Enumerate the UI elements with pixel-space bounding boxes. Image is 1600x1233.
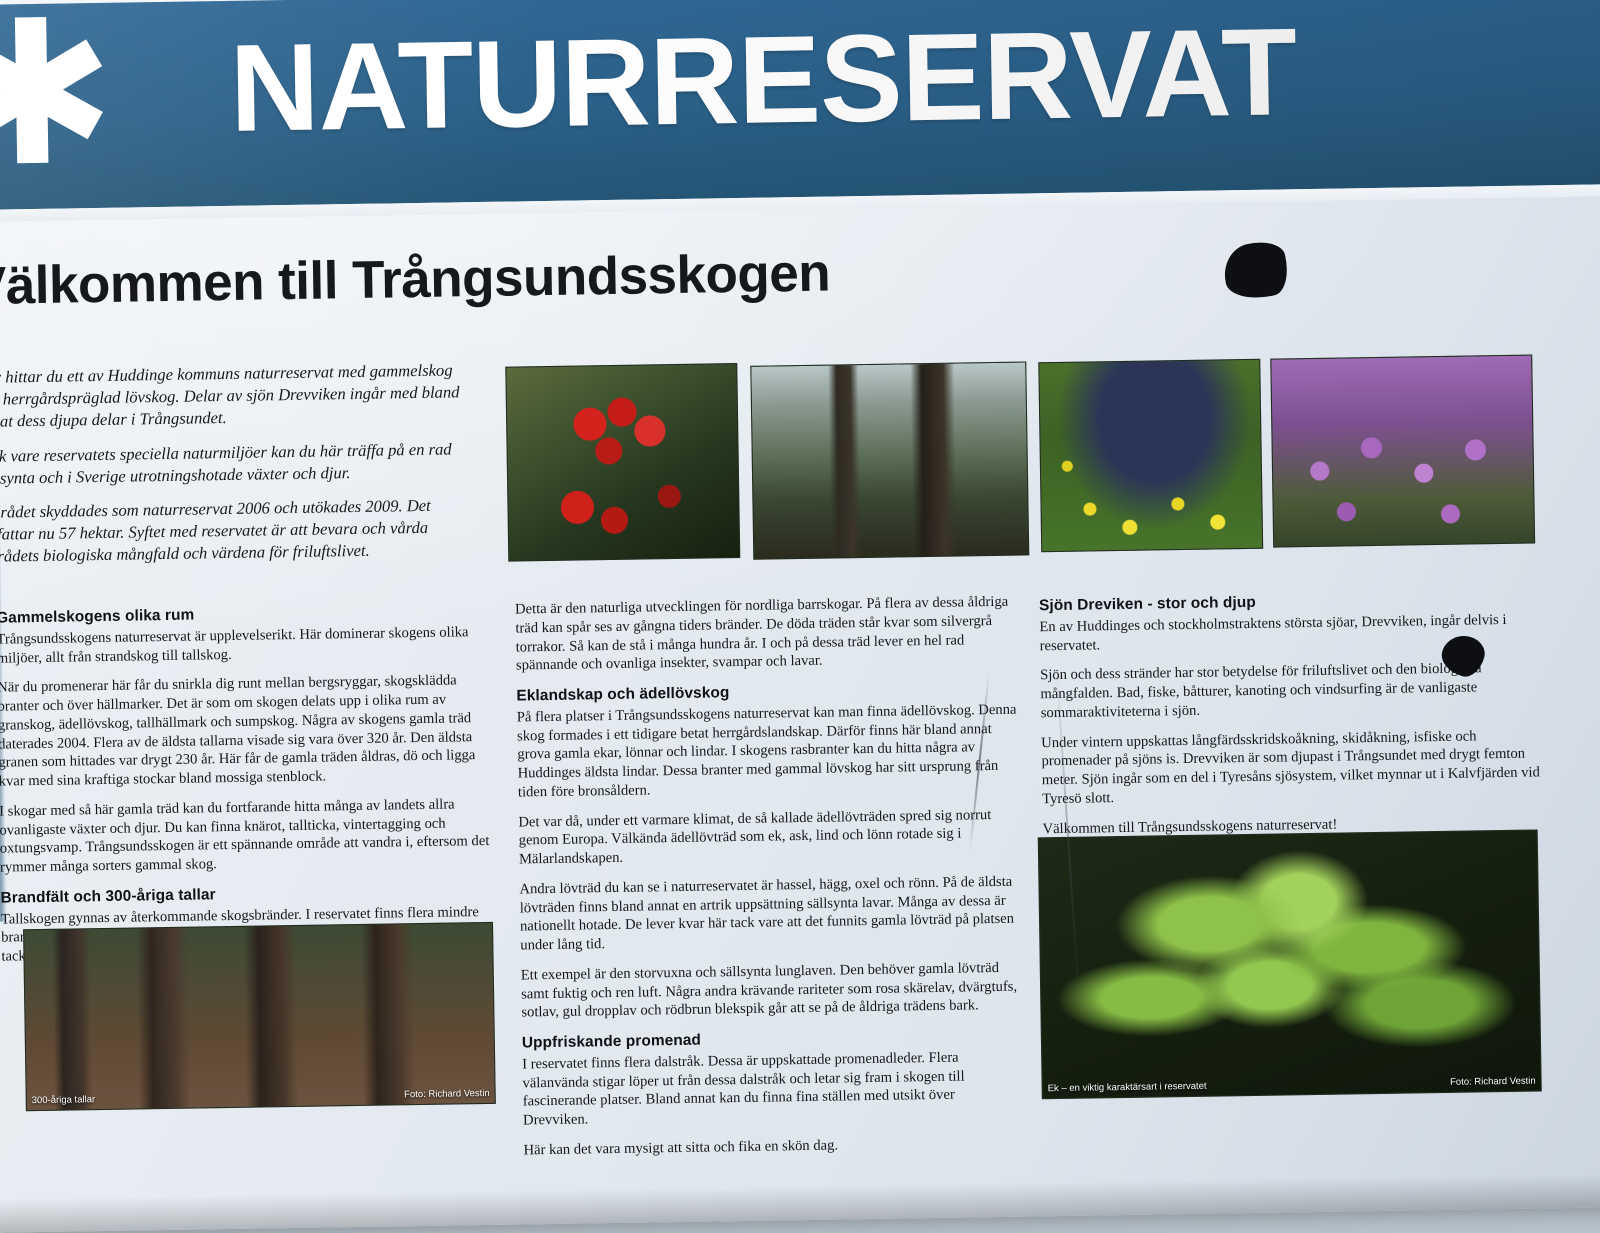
body-paragraph: Det var då, under ett varmare klimat, de…: [518, 805, 1019, 869]
photo-oak-leaves: Ek – en viktig karaktärsart i reservatet…: [1038, 829, 1542, 1099]
photo-caption: 300-åriga tallar: [32, 1094, 96, 1106]
photo-heather-image: [1271, 356, 1534, 547]
photo-pines-image: [24, 923, 495, 1110]
body-paragraph: På flera platser i Trångsundsskogens nat…: [517, 700, 1018, 802]
photo-oaks-image: [751, 362, 1028, 558]
intro-block: Här hittar du ett av Huddinge kommuns na…: [0, 359, 478, 581]
body-paragraph: Andra lövträd du kan se i naturreservate…: [519, 872, 1020, 955]
nature-reserve-sign: ✱ NATURRESERVAT Välkommen till Trångsund…: [0, 0, 1600, 1233]
bottom-shadow: [0, 1173, 1600, 1233]
body-paragraph: Under vintern uppskattas långfärdsskrids…: [1041, 726, 1542, 809]
intro-paragraph: Tack vare reservatets speciella naturmil…: [0, 438, 476, 490]
header-band: ✱ NATURRESERVAT: [0, 0, 1600, 210]
body-paragraph: En av Huddinges och stockholmstraktens s…: [1039, 610, 1540, 655]
page-title: NATURRESERVAT: [229, 10, 1297, 151]
body-paragraph: När du promenerar här får du snirkla dig…: [0, 671, 491, 791]
welcome-heading: Välkommen till Trångsundsskogen: [0, 243, 831, 317]
photo-svalort-image: [1039, 360, 1262, 551]
intro-paragraph: Området skyddades som naturreservat 2006…: [0, 495, 477, 569]
body-paragraph: Detta är den naturliga utvecklingen för …: [515, 593, 1016, 676]
column-left: Gammelskogens olika rum Trångsundsskogen…: [0, 601, 494, 978]
photo-credit: Foto: Richard Vestin: [404, 1088, 490, 1100]
body-paragraph: Sjön och dess stränder har stor betydels…: [1040, 659, 1541, 723]
sign-blemish: [1218, 236, 1293, 305]
photo-300-year-pines: 300-åriga tallar Foto: Richard Vestin: [23, 922, 496, 1111]
photo-rowan-berries: Rönnbär: [505, 363, 740, 562]
photo-heather: Ljung på tallhällmarken Foto: Richard Ve…: [1270, 354, 1535, 547]
asterisk-icon: ✱: [0, 19, 89, 171]
photo-oakleaf-image: [1039, 830, 1541, 1098]
photo-lesser-celandine: Svalört om våren: [1038, 359, 1263, 552]
column-right: Sjön Dreviken - stor och djup En av Hudd…: [1039, 588, 1543, 849]
photo-rowan-image: [506, 364, 739, 561]
photo-credit: Foto: Richard Vestin: [1450, 1076, 1536, 1088]
column-middle: Detta är den naturliga utvecklingen för …: [515, 593, 1024, 1171]
photo-old-oaks: Gamla ekar i Trångsund: [750, 361, 1029, 559]
body-paragraph: Ett exempel är den storvuxna och sällsyn…: [521, 958, 1022, 1022]
body-paragraph: I skogar med så här gamla träd kan du fo…: [0, 795, 492, 878]
body-paragraph: Här kan det vara mysigt att sitta och fi…: [523, 1133, 1023, 1160]
body-paragraph: Trångsundsskogens naturreservat är upple…: [0, 623, 489, 668]
intro-paragraph: Här hittar du ett av Huddinge kommuns na…: [0, 359, 475, 433]
body-paragraph: I reservatet finns flera dalstråk. Dessa…: [522, 1047, 1023, 1130]
